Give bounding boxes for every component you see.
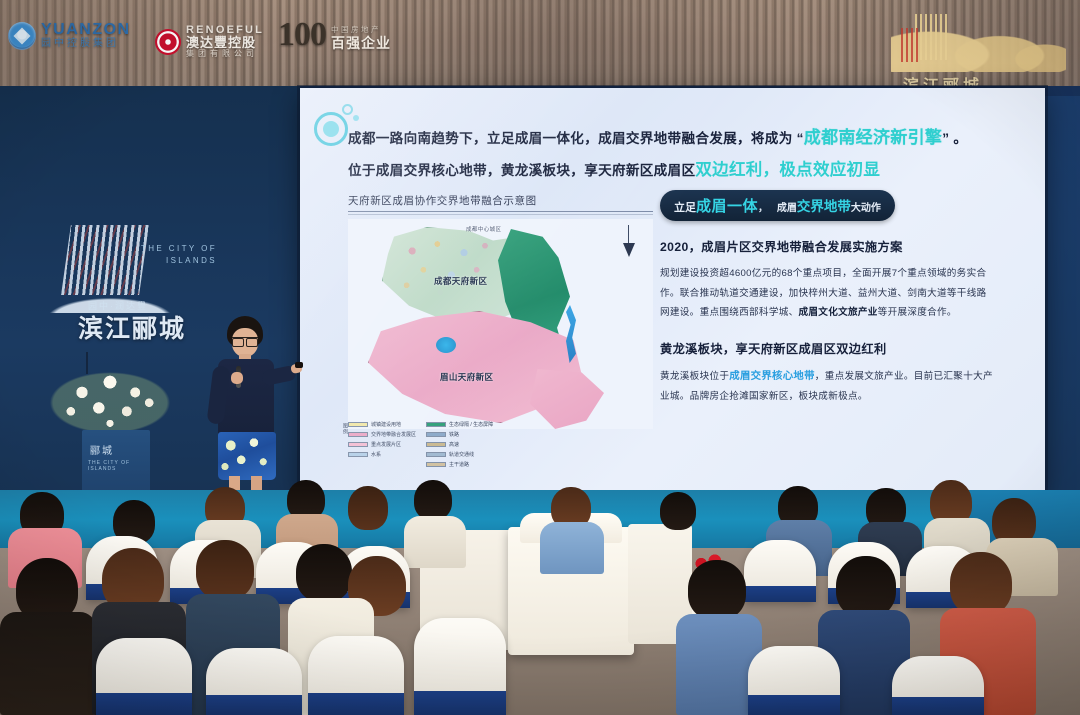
chair-sash: [96, 693, 192, 715]
legend-label: 城镇建设用地: [371, 421, 401, 428]
yuanzon-cn: 园中控股集团: [41, 39, 131, 50]
chair-sash: [744, 586, 816, 602]
map-block: 天府新区成眉协作交界地带融合示意图 成都中心城区 成都天府新区 眉山天府新区 图…: [348, 193, 653, 473]
body2-part-a: 黄龙溪板块位于: [660, 371, 729, 382]
legend-swatch: [348, 422, 368, 427]
top100-cn-big: 百强企业: [331, 35, 391, 51]
map-legend: 城镇建设用地 交界地带融合发展区 重点发展片区 水系 生态绿隔 / 生态屏障 铁…: [348, 421, 608, 469]
audience-torso: [404, 516, 466, 568]
sign-english: THE CITY OF ISLANDS: [141, 243, 217, 267]
gold-sculpture-icon: [891, 14, 1066, 72]
audience-chair: [96, 638, 192, 715]
podium-line2: THE CITY OF ISLANDS: [88, 460, 150, 472]
legend-label: 高速: [449, 441, 459, 448]
glasses-icon: [232, 337, 258, 344]
podium-line1: 郦城: [90, 442, 114, 457]
audience-chair: [414, 618, 506, 715]
yuanzon-en: YUANZON: [41, 22, 131, 39]
legend-label: 轨道交通线: [449, 451, 474, 458]
top100-cn-small: 中国房地产: [331, 26, 391, 35]
body1-emphasis: 成眉文化文旅产业: [799, 307, 878, 318]
slide-headline: 成都一路向南趋势下，立足成眉一体化，成眉交界地带融合发展，将成为 “成都南经济新…: [348, 122, 1026, 186]
presenter-left-hand: [231, 372, 243, 384]
map-canvas: 成都中心城区 成都天府新区 眉山天府新区: [348, 219, 653, 429]
audience-chair: [308, 636, 404, 715]
legend-item: 交界地带融合发展区: [348, 431, 416, 438]
audience-chair: [744, 540, 816, 602]
map-label-central-city: 成都中心城区: [466, 225, 501, 233]
audience-head: [414, 480, 452, 520]
map-label-meishan: 眉山天府新区: [440, 371, 493, 383]
legend-item: 主干道路: [426, 461, 493, 468]
audience-head: [660, 492, 696, 530]
headline-line2-a: 位于成眉交界核心地带，黄龙溪板块，享天府新区成眉区: [348, 163, 695, 178]
chair-sash: [892, 697, 984, 715]
chair-sash: [308, 693, 404, 715]
audience-chair: [206, 648, 302, 715]
legend-label: 重点发展片区: [371, 441, 401, 448]
headline-line2-highlight1: 双边红利，: [695, 161, 779, 179]
legend-item: 重点发展片区: [348, 441, 416, 448]
legend-label: 交界地带融合发展区: [371, 431, 416, 438]
legend-label: 生态绿隔 / 生态屏障: [449, 421, 493, 428]
subheading-1: 2020，成眉片区交界地带融合发展实施方案: [660, 237, 995, 255]
legend-swatch: [426, 462, 446, 467]
map-title: 天府新区成眉协作交界地带融合示意图: [348, 193, 653, 208]
sign-en-line1: THE CITY OF: [141, 244, 217, 253]
headline-line1-highlight: 成都南经济新引擎: [804, 128, 942, 147]
audience-torso: [0, 612, 96, 715]
headline-line2-highlight2: 极点效应初显: [779, 161, 880, 179]
wall-branding-sign: THE CITY OF ISLANDS 园中·润达豐 滨江郦城: [28, 225, 233, 330]
legend-item: 高速: [426, 441, 493, 448]
audience-chair: [892, 656, 984, 715]
headline-line1-b: ” 。: [942, 131, 967, 146]
conference-photo: YUANZON 园中控股集团 RENOEFUL 澳达豐控股 集团有限公司 100…: [0, 0, 1080, 715]
legend-item: 水系: [348, 451, 416, 458]
legend-label: 铁路: [449, 431, 459, 438]
legend-label: 水系: [371, 451, 381, 458]
sign-cn-big: 滨江郦城: [78, 309, 186, 345]
logo-yuanzon: YUANZON 园中控股集团: [8, 22, 131, 50]
section-badge: 立足成眉一体， 成眉交界地带大动作: [660, 190, 895, 221]
chair-sash: [414, 691, 506, 715]
renoeful-mark-icon: [155, 29, 181, 55]
logo-top100: 100 中国房地产 百强企业: [278, 20, 391, 51]
map-lake-icon: [436, 337, 456, 353]
renoeful-cn2: 集团有限公司: [186, 50, 264, 59]
audience-torso: [540, 522, 604, 574]
legend-swatch: [426, 442, 446, 447]
legend-item: 生态绿隔 / 生态屏障: [426, 421, 493, 428]
sign-en-line2: ISLANDS: [166, 256, 217, 265]
slide-text-panel: 立足成眉一体， 成眉交界地带大动作 2020，成眉片区交界地带融合发展实施方案 …: [660, 190, 995, 407]
legend-item: 城镇建设用地: [348, 421, 416, 428]
presenter-skirt: [218, 432, 276, 480]
legend-swatch: [426, 422, 446, 427]
legend-swatch: [426, 452, 446, 457]
legend-item: 轨道交通线: [426, 451, 493, 458]
badge-seg4: 成眉: [777, 203, 797, 214]
badge-seg2: 成眉一体: [696, 198, 758, 215]
map-label-chengdu: 成都天府新区: [434, 275, 487, 287]
audience-head: [950, 552, 1012, 616]
yuanzon-mark-icon: [8, 22, 36, 50]
body-paragraph-1: 规划建设投资超4600亿元的68个重点项目，全面开展7个重点领域的务实合作。联合…: [660, 264, 995, 323]
legend-swatch: [348, 452, 368, 457]
legend-swatch: [426, 432, 446, 437]
body-paragraph-2: 黄龙溪板块位于成眉交界核心地带，重点发展文旅产业。目前已汇聚十大产业城。品牌房企…: [660, 366, 995, 407]
top100-number: 100: [278, 20, 326, 51]
legend-swatch: [348, 442, 368, 447]
audience-head: [296, 544, 352, 602]
compass-icon: [621, 225, 639, 259]
audience-chair: [748, 646, 840, 715]
badge-seg6: 大动作: [851, 203, 881, 214]
headline-line1-a: 成都一路向南趋势下，立足成眉一体化，成眉交界地带融合发展，将成为 “: [348, 131, 804, 146]
audience-head: [836, 556, 896, 618]
legend-label: 主干道路: [449, 461, 469, 468]
legend-item: 铁路: [426, 431, 493, 438]
presentation-clicker-icon: [295, 362, 303, 368]
presenter: [196, 316, 300, 506]
badge-seg3: ，: [758, 203, 768, 214]
audience-head: [348, 486, 388, 530]
subheading-2: 黄龙溪板块，享天府新区成眉区双边红利: [660, 339, 995, 357]
map-rule-top: [348, 211, 653, 212]
map-rule-bottom: [348, 214, 653, 215]
chair-sash: [748, 695, 840, 715]
chair-sash: [206, 695, 302, 715]
badge-seg1: 立足: [674, 202, 696, 214]
badge-seg5: 交界地带: [797, 199, 851, 214]
audience-head: [196, 540, 254, 600]
audience-head: [688, 560, 746, 620]
logo-renoeful: RENOEFUL 澳达豐控股 集团有限公司: [155, 24, 264, 59]
body1-part-c: 等开展深度合作。: [878, 307, 957, 318]
projection-screen: 成都一路向南趋势下，立足成眉一体化，成眉交界地带融合发展，将成为 “成都南经济新…: [300, 88, 1045, 493]
body2-highlight: 成眉交界核心地带: [729, 371, 815, 382]
legend-swatch: [348, 432, 368, 437]
